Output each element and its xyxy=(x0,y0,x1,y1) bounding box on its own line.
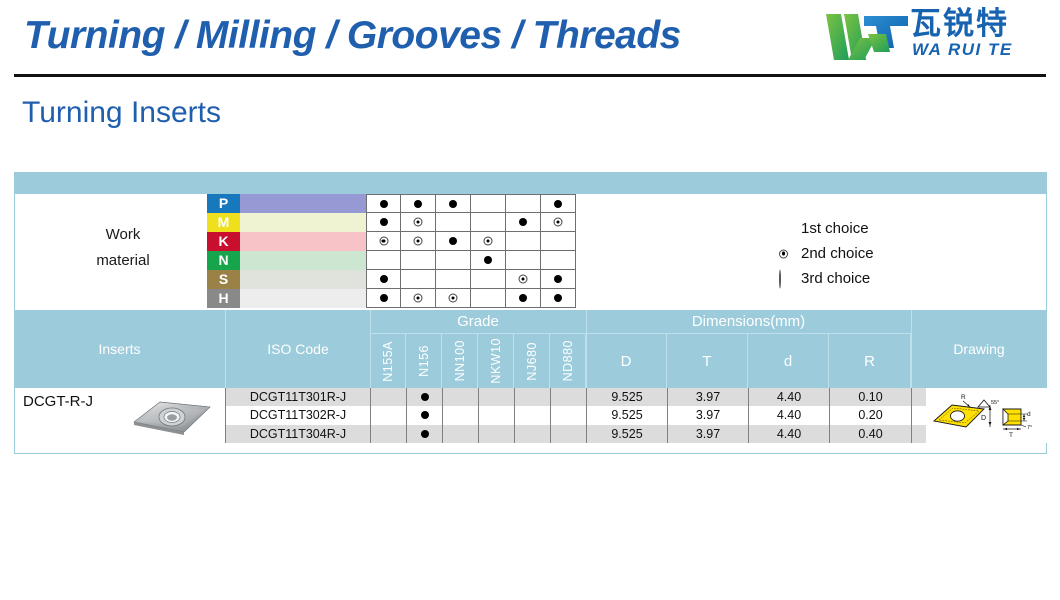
th-grade-group: Grade xyxy=(370,310,586,334)
th-grade-nd880: ND880 xyxy=(550,334,586,388)
header-title: Turning / Milling / Grooves / Threads xyxy=(24,14,681,58)
choice-1st-icon xyxy=(421,393,429,401)
material-grade-cell xyxy=(366,194,401,213)
table-row: DCGT11T304R-J9.5253.974.400.40 xyxy=(226,425,1046,443)
work-material-row-n: N xyxy=(207,251,767,270)
legend-item: 1st choice xyxy=(771,216,1011,241)
material-grade-cell xyxy=(541,194,576,213)
legend-label: 1st choice xyxy=(801,220,869,237)
cell-grade-nkw10 xyxy=(479,388,515,406)
material-cells xyxy=(366,232,582,251)
material-grade-cell xyxy=(541,232,576,251)
choice-1st-icon xyxy=(414,200,422,208)
material-key-n: N xyxy=(207,251,240,270)
cell-dim-d: 4.40 xyxy=(749,388,830,406)
material-grade-cell xyxy=(436,232,471,251)
work-material-matrix: PMKNSH xyxy=(207,194,767,308)
material-grade-cell xyxy=(436,194,471,213)
material-grade-cell xyxy=(471,251,506,270)
cell-grade-n156 xyxy=(407,388,443,406)
material-key-k: K xyxy=(207,232,240,251)
work-material-row-h: H xyxy=(207,289,767,308)
cell-iso-code: DCGT11T304R-J xyxy=(226,425,371,443)
material-cells xyxy=(366,289,582,308)
material-swatch-k xyxy=(240,232,366,251)
material-grade-cell xyxy=(366,289,401,308)
cell-grade-nn100 xyxy=(443,388,479,406)
cell-grade-n155a xyxy=(371,388,407,406)
cell-grade-n155a xyxy=(371,406,407,424)
th-inserts: Inserts xyxy=(14,310,225,388)
material-grade-cell xyxy=(366,232,401,251)
choice-1st-icon xyxy=(519,294,527,302)
wrt-monogram-icon xyxy=(824,8,910,64)
choice-2nd-icon xyxy=(414,218,423,227)
work-material-section: Work material PMKNSH 1st choice2nd choic… xyxy=(14,194,1047,310)
th-dim-d: d xyxy=(748,334,829,388)
work-material-label-line1: Work xyxy=(63,222,183,248)
svg-text:R: R xyxy=(961,394,966,401)
choice-1st-icon xyxy=(449,237,457,245)
material-grade-cell xyxy=(366,270,401,289)
cell-grade-nd880 xyxy=(551,425,587,443)
choice-2nd-icon xyxy=(414,294,423,303)
cell-dim-R: 0.10 xyxy=(830,388,912,406)
material-grade-cell xyxy=(506,232,541,251)
choice-1st-icon xyxy=(554,294,562,302)
th-drawing: Drawing xyxy=(912,310,1046,388)
material-grade-cell xyxy=(506,251,541,270)
cell-dim-T: 3.97 xyxy=(668,388,749,406)
cell-dim-R: 0.20 xyxy=(830,406,912,424)
th-grade-nn100: NN100 xyxy=(442,334,478,388)
choice-1st-icon xyxy=(484,256,492,264)
choice-2nd-icon xyxy=(519,275,528,284)
cell-grade-nj680 xyxy=(515,388,551,406)
cell-grade-nn100 xyxy=(443,425,479,443)
choice-1st-icon xyxy=(449,200,457,208)
choice-2nd-icon xyxy=(414,237,423,246)
cell-grade-n156 xyxy=(407,406,443,424)
logo-english-text: WA RUI TE xyxy=(912,40,1013,60)
cell-iso-code: DCGT11T301R-J xyxy=(226,388,371,406)
product-table: Work material PMKNSH 1st choice2nd choic… xyxy=(14,172,1047,454)
choice-1st-icon xyxy=(421,430,429,438)
material-grade-cell xyxy=(436,289,471,308)
material-key-h: H xyxy=(207,289,240,308)
material-grade-cell xyxy=(401,194,436,213)
material-grade-cell xyxy=(436,270,471,289)
cell-grade-nd880 xyxy=(551,406,587,424)
choice-1st-icon xyxy=(519,218,527,226)
cell-dim-d: 4.40 xyxy=(749,406,830,424)
cell-grade-nj680 xyxy=(515,425,551,443)
material-grade-cell xyxy=(401,213,436,232)
material-grade-cell xyxy=(436,213,471,232)
logo-chinese-text: 瓦锐特 xyxy=(910,6,1009,42)
work-material-row-k: K xyxy=(207,232,767,251)
choice-1st-icon xyxy=(554,200,562,208)
table-row: DCGT11T301R-J9.5253.974.400.10 xyxy=(226,388,1046,406)
material-cells xyxy=(366,251,582,270)
table-top-band xyxy=(14,172,1047,194)
choice-1st-icon xyxy=(380,218,388,226)
cell-dim-R: 0.40 xyxy=(830,425,912,443)
cell-iso-code: DCGT11T302R-J xyxy=(226,406,371,424)
th-dim-D: D xyxy=(586,334,667,388)
insert-dimension-drawing: R 55° D d 7° xyxy=(928,391,1045,441)
header-divider xyxy=(14,74,1046,77)
material-swatch-m xyxy=(240,213,366,232)
choice-1st-icon xyxy=(380,294,388,302)
th-grade-nj680: NJ680 xyxy=(514,334,550,388)
product-rows: DCGT11T301R-J9.5253.974.400.10DCGT11T302… xyxy=(226,388,1046,443)
technical-drawing-cell: R 55° D d 7° xyxy=(926,388,1047,443)
cell-grade-nkw10 xyxy=(479,406,515,424)
cell-dim-T: 3.97 xyxy=(668,406,749,424)
work-material-row-m: M xyxy=(207,213,767,232)
cell-grade-nj680 xyxy=(515,406,551,424)
choice-2nd-icon xyxy=(779,249,788,258)
cell-dim-D: 9.525 xyxy=(587,388,668,406)
material-grade-cell xyxy=(471,232,506,251)
cell-dim-D: 9.525 xyxy=(587,425,668,443)
work-material-label-line2: material xyxy=(63,248,183,274)
material-cells xyxy=(366,270,582,289)
svg-text:D: D xyxy=(981,415,986,422)
th-dim-T: T xyxy=(667,334,748,388)
material-key-p: P xyxy=(207,194,240,213)
material-grade-cell xyxy=(541,251,576,270)
material-grade-cell xyxy=(471,289,506,308)
cell-dim-d: 4.40 xyxy=(749,425,830,443)
choice-1st-icon xyxy=(380,275,388,283)
material-grade-cell xyxy=(506,270,541,289)
legend-item: 2nd choice xyxy=(771,241,1011,266)
page-header: Turning / Milling / Grooves / Threads 瓦锐… xyxy=(0,0,1060,78)
material-grade-cell xyxy=(506,194,541,213)
material-grade-cell xyxy=(471,213,506,232)
legend-label: 3rd choice xyxy=(801,270,870,287)
table-row: DCGT11T302R-J9.5253.974.400.20 xyxy=(226,406,1046,424)
cell-dim-T: 3.97 xyxy=(668,425,749,443)
svg-text:d: d xyxy=(1027,411,1031,418)
legend-item: 3rd choice xyxy=(771,266,1011,291)
cell-grade-n155a xyxy=(371,425,407,443)
material-grade-cell xyxy=(506,289,541,308)
material-swatch-s xyxy=(240,270,366,289)
material-key-s: S xyxy=(207,270,240,289)
material-grade-cell xyxy=(471,270,506,289)
material-cells xyxy=(366,213,582,232)
material-grade-cell xyxy=(366,251,401,270)
th-iso-code: ISO Code xyxy=(226,310,370,388)
legend-label: 2nd choice xyxy=(801,245,874,262)
choice-1st-icon xyxy=(554,275,562,283)
material-swatch-n xyxy=(240,251,366,270)
th-grade-n155a: N155A xyxy=(370,334,406,388)
choice-2nd-icon xyxy=(554,218,563,227)
th-dimensions-group: Dimensions(mm) xyxy=(586,310,911,334)
material-swatch-p xyxy=(240,194,366,213)
choice-2nd-icon xyxy=(379,237,388,246)
insert-photo xyxy=(130,394,214,440)
page-title: Turning Inserts xyxy=(22,96,221,130)
cell-grade-nd880 xyxy=(551,388,587,406)
insert-family-cell: DCGT-R-J xyxy=(15,388,226,443)
work-material-row-s: S xyxy=(207,270,767,289)
material-grade-cell xyxy=(401,251,436,270)
choice-2nd-icon xyxy=(449,294,458,303)
material-grade-cell xyxy=(366,213,401,232)
work-material-label: Work material xyxy=(63,222,183,274)
th-dim-R: R xyxy=(829,334,911,388)
material-cells xyxy=(366,194,582,213)
material-grade-cell xyxy=(436,251,471,270)
work-material-row-p: P xyxy=(207,194,767,213)
table-body: DCGT-R-J DCGT xyxy=(14,388,1047,445)
material-key-m: M xyxy=(207,213,240,232)
choice-2nd-icon xyxy=(484,237,493,246)
material-grade-cell xyxy=(401,232,436,251)
table-header-row: Inserts ISO Code Grade N155AN156NN100NKW… xyxy=(14,310,1047,388)
choice-3rd-icon xyxy=(779,269,781,288)
th-grade-n156: N156 xyxy=(406,334,442,388)
choice-1st-icon xyxy=(380,200,388,208)
material-grade-cell xyxy=(401,270,436,289)
choice-1st-icon xyxy=(421,411,429,419)
company-logo: 瓦锐特 WA RUI TE xyxy=(824,6,1048,68)
cell-grade-nkw10 xyxy=(479,425,515,443)
material-swatch-h xyxy=(240,289,366,308)
material-grade-cell xyxy=(541,213,576,232)
svg-text:55°: 55° xyxy=(991,400,999,406)
material-grade-cell xyxy=(401,289,436,308)
material-grade-cell xyxy=(506,213,541,232)
cell-grade-nn100 xyxy=(443,406,479,424)
svg-text:7°: 7° xyxy=(1027,425,1032,431)
choice-legend: 1st choice2nd choice3rd choice xyxy=(771,216,1011,291)
material-grade-cell xyxy=(541,270,576,289)
table-bottom-band xyxy=(14,445,1047,454)
cell-grade-n156 xyxy=(407,425,443,443)
material-grade-cell xyxy=(471,194,506,213)
cell-dim-D: 9.525 xyxy=(587,406,668,424)
th-grade-nkw10: NKW10 xyxy=(478,334,514,388)
svg-text:T: T xyxy=(1009,432,1013,439)
insert-family-name: DCGT-R-J xyxy=(23,393,93,410)
material-grade-cell xyxy=(541,289,576,308)
